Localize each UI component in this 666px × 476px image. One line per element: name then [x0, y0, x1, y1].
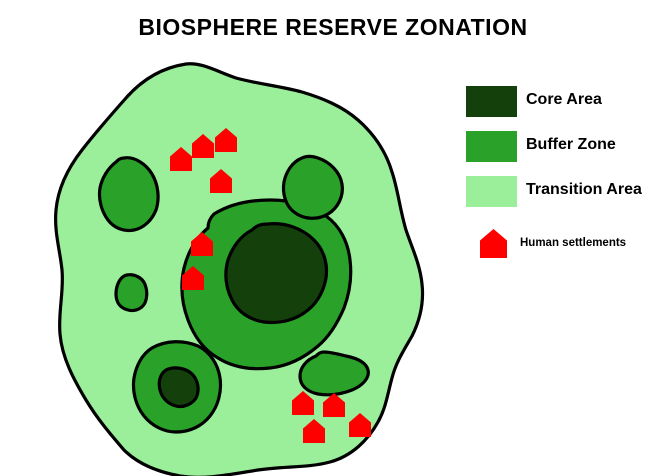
page-title: BIOSPHERE RESERVE ZONATION: [0, 14, 666, 41]
transition-area-swatch: [466, 176, 517, 207]
biosphere-reserve-map: [0, 40, 450, 476]
legend-item-core-area: Core Area: [466, 86, 666, 120]
buffer-zone-shape-upper-right: [283, 157, 342, 219]
core-area-shape-main: [226, 224, 327, 323]
core-area-shape-secondary: [159, 368, 198, 407]
buffer-zone-shape-mid-left-small: [116, 275, 147, 311]
legend-label-buffer-zone: Buffer Zone: [526, 136, 616, 154]
legend-label-human-settlements: Human settlements: [520, 237, 626, 249]
map-legend: Core Area Buffer Zone Transition Area Hu…: [466, 86, 666, 266]
buffer-zone-shape-bottom-right: [300, 352, 368, 395]
legend-item-buffer-zone: Buffer Zone: [466, 131, 666, 165]
core-area-swatch: [466, 86, 517, 117]
human-settlement-swatch: [480, 229, 507, 258]
legend-item-transition-area: Transition Area: [466, 176, 666, 210]
legend-label-transition-area: Transition Area: [526, 181, 642, 199]
buffer-zone-swatch: [466, 131, 517, 162]
legend-label-core-area: Core Area: [526, 91, 602, 109]
legend-item-human-settlements: Human settlements: [466, 228, 666, 262]
buffer-zone-shape-left: [99, 158, 158, 231]
